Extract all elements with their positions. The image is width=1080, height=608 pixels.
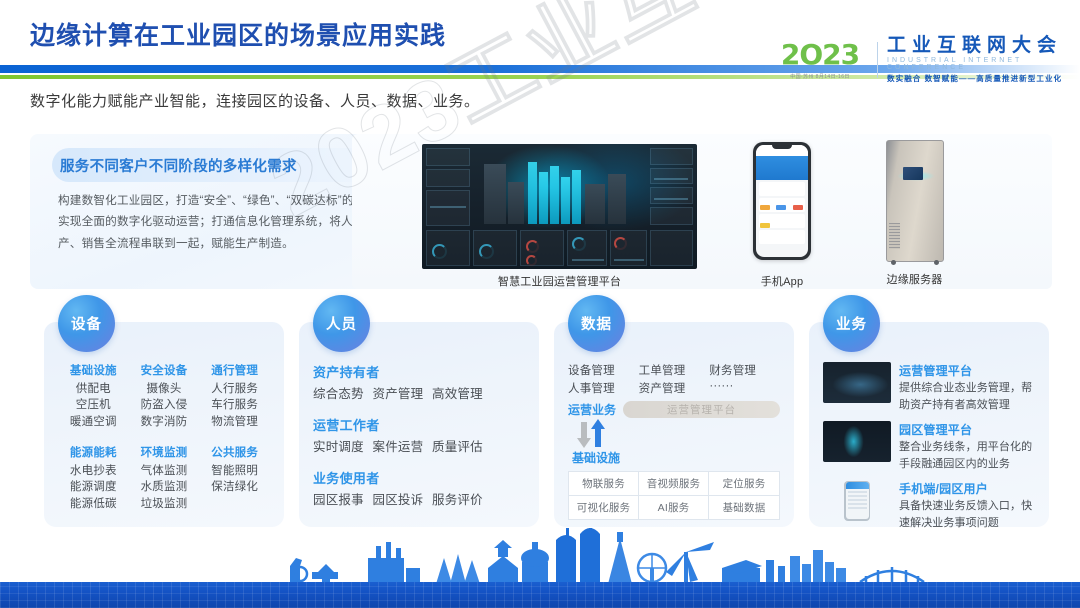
device-item: 智能照明 <box>199 463 270 479</box>
people-item: 实时调度 <box>313 440 364 454</box>
intro-body-text: 构建数智化工业园区，打造“安全”、“绿色”、“双碳达标”的园区，实现全面的数字化… <box>58 190 393 254</box>
logo-divider <box>877 42 878 78</box>
phone-chip <box>760 205 770 210</box>
people-item: 园区投诉 <box>373 493 424 507</box>
device-item: 防盗入侵 <box>129 397 200 413</box>
business-head: 手机端/园区用户 <box>899 480 1035 497</box>
footer-band <box>0 582 1080 608</box>
device-column-head: 安全设备 <box>129 362 200 378</box>
business-text: 运营管理平台 提供综合业态业务管理，帮助资产持有者高效管理 <box>899 362 1035 413</box>
page-subtitle: 数字化能力赋能产业智能，连接园区的设备、人员、数据、业务。 <box>30 90 480 111</box>
data-top-item: 资产管理 <box>639 380 710 396</box>
device-item: 空压机 <box>58 397 129 413</box>
device-item: 车行服务 <box>199 397 270 413</box>
mobile-phone-thumbnail <box>823 480 891 521</box>
server-vent <box>889 223 900 249</box>
business-text: 园区管理平台 整合业务线条，用平台化的手段融通园区内的业务 <box>899 421 1035 472</box>
mini-phone-mock <box>844 481 870 521</box>
phone-chip <box>793 205 803 210</box>
dashboard-caption: 智慧工业园运营管理平台 <box>422 273 697 289</box>
device-column-head: 环境监测 <box>129 444 200 460</box>
server-display-panel <box>903 167 923 180</box>
data-top-item: 设备管理 <box>568 362 639 378</box>
dashboard-screenshot <box>422 144 697 269</box>
phone-card <box>759 198 805 212</box>
pillar-badge-data: 数据 <box>568 295 625 352</box>
phone-screen <box>756 145 808 257</box>
data-top-item: 工单管理 <box>639 362 710 378</box>
people-item: 园区报事 <box>313 493 364 507</box>
phone-card <box>759 182 805 196</box>
data-top-item: 人事管理 <box>568 380 639 396</box>
data-service-box[interactable]: 物联服务 <box>569 472 639 496</box>
device-item: 水电抄表 <box>58 463 129 479</box>
server-caster <box>891 260 896 265</box>
people-group: 业务使用者 园区报事 园区投诉 服务评价 <box>313 468 525 508</box>
people-group: 资产持有者 综合态势 资产管理 高效管理 <box>313 362 525 402</box>
people-group-items: 综合态势 资产管理 高效管理 <box>313 383 525 402</box>
data-ops-label: 运营业务 <box>568 401 616 418</box>
device-item: 摄像头 <box>129 381 200 397</box>
phone-device-mock <box>753 142 811 260</box>
pillar-badge-business: 业务 <box>823 295 880 352</box>
people-group-items: 园区报事 园区投诉 服务评价 <box>313 489 525 508</box>
data-top-item: 财务管理 <box>709 362 780 378</box>
mini-phone-line <box>848 495 867 497</box>
logo-name-cn: 工业互联网大会 <box>887 36 1072 56</box>
logo-year-block: 2O23 中国·苏州 8月14日-16日 <box>772 41 868 80</box>
mini-phone-banner <box>846 482 869 489</box>
device-column: 公共服务 智能照明 保洁绿化 <box>199 444 270 512</box>
device-column: 基础设施 供配电 空压机 暖通空调 <box>58 362 129 430</box>
device-column-head: 基础设施 <box>58 362 129 378</box>
footer-decoration <box>0 528 1080 608</box>
mini-phone-line <box>848 491 867 493</box>
device-column-head: 公共服务 <box>199 444 270 460</box>
phone-hero-banner <box>756 156 808 180</box>
data-service-box[interactable]: 基础数据 <box>709 496 779 519</box>
server-photo: 边缘服务器 <box>862 140 967 270</box>
city-skyline-icon <box>0 528 1080 584</box>
server-caster <box>934 260 939 265</box>
people-item: 质量评估 <box>432 440 483 454</box>
pillar-badge-people: 人员 <box>313 295 370 352</box>
people-item: 高效管理 <box>432 387 483 401</box>
device-item: 垃圾监测 <box>129 496 200 512</box>
device-item: 暖通空调 <box>58 414 129 430</box>
server-caption: 边缘服务器 <box>862 271 967 287</box>
business-text: 手机端/园区用户 具备快速业务反馈入口，快速解决业务事项问题 <box>899 480 1035 531</box>
data-ops-row: 运营业务 运营管理平台 <box>568 401 780 418</box>
phone-caption: 手机App <box>747 273 817 289</box>
device-column: 通行管理 人行服务 车行服务 物流管理 <box>199 362 270 430</box>
logo-year: 2O23 <box>772 41 868 69</box>
phone-chip <box>760 223 770 228</box>
device-item: 气体监测 <box>129 463 200 479</box>
data-service-box[interactable]: AI服务 <box>639 496 709 519</box>
page-title: 边缘计算在工业园区的场景应用实践 <box>30 16 446 52</box>
data-flow-arrows <box>568 419 622 449</box>
business-desc: 具备快速业务反馈入口，快速解决业务事项问题 <box>899 498 1035 531</box>
device-column: 安全设备 摄像头 防盗入侵 数字消防 <box>129 362 200 430</box>
device-item: 保洁绿化 <box>199 479 270 495</box>
people-group-items: 实时调度 案件运营 质量评估 <box>313 436 525 455</box>
mini-phone-line <box>848 507 867 509</box>
data-service-box[interactable]: 定位服务 <box>709 472 779 496</box>
data-top-grid: 设备管理 工单管理 财务管理 人事管理 资产管理 ······ <box>568 362 780 396</box>
logo-date-location: 中国·苏州 8月14日-16日 <box>772 73 868 80</box>
people-group: 运营工作者 实时调度 案件运营 质量评估 <box>313 415 525 455</box>
device-grid: 基础设施 供配电 空压机 暖通空调 安全设备 摄像头 防盗入侵 数字消防 通行管… <box>58 362 270 512</box>
device-item: 水质监测 <box>129 479 200 495</box>
business-head: 运营管理平台 <box>899 362 1035 379</box>
data-service-boxes: 物联服务 音视频服务 定位服务 可视化服务 AI服务 基础数据 <box>568 471 780 520</box>
business-head: 园区管理平台 <box>899 421 1035 438</box>
people-item: 资产管理 <box>373 387 424 401</box>
device-column-head: 能源能耗 <box>58 444 129 460</box>
device-item: 供配电 <box>58 381 129 397</box>
phone-notch <box>772 145 792 149</box>
people-group-head: 业务使用者 <box>313 468 525 487</box>
device-item: 人行服务 <box>199 381 270 397</box>
business-desc: 提供综合业态业务管理，帮助资产持有者高效管理 <box>899 380 1035 413</box>
phone-chip <box>776 205 786 210</box>
device-item: 数字消防 <box>129 414 200 430</box>
phone-photo: 手机App <box>747 142 817 270</box>
logo-slogan: 数实融合 数智赋能——高质量推进新型工业化 <box>887 73 1072 84</box>
dashboard-photo: 智慧工业园运营管理平台 <box>422 144 697 269</box>
mini-phone-screen <box>846 482 869 519</box>
mini-phone-line <box>848 499 867 501</box>
people-group-head: 资产持有者 <box>313 362 525 381</box>
pillar-badge-device: 设备 <box>58 295 115 352</box>
conference-logo: 2O23 中国·苏州 8月14日-16日 工业互联网大会 INDUSTRIAL … <box>772 32 1072 88</box>
device-item: 能源低碳 <box>58 496 129 512</box>
data-service-row: 物联服务 音视频服务 定位服务 <box>569 472 779 496</box>
data-platform-pill: 运营管理平台 <box>623 401 780 418</box>
business-row: 园区管理平台 整合业务线条，用平台化的手段融通园区内的业务 <box>823 421 1035 472</box>
device-column: 能源能耗 水电抄表 能源调度 能源低碳 <box>58 444 129 512</box>
device-item: 物流管理 <box>199 414 270 430</box>
tower-dashboard-thumbnail <box>823 421 891 462</box>
device-column: 环境监测 气体监测 水质监测 垃圾监测 <box>129 444 200 512</box>
edge-server-mock <box>886 140 944 262</box>
product-photo-strip: 智慧工业园运营管理平台 手机App <box>352 134 1052 289</box>
people-item: 综合态势 <box>313 387 364 401</box>
data-top-item: ······ <box>709 380 780 396</box>
people-group-head: 运营工作者 <box>313 415 525 434</box>
data-infra-label: 基础设施 <box>572 449 780 466</box>
phone-card <box>759 230 805 244</box>
data-service-box[interactable]: 可视化服务 <box>569 496 639 519</box>
data-service-row: 可视化服务 AI服务 基础数据 <box>569 496 779 519</box>
business-row: 运营管理平台 提供综合业态业务管理，帮助资产持有者高效管理 <box>823 362 1035 413</box>
logo-name-en: INDUSTRIAL INTERNET CONFERENCE <box>887 57 1072 71</box>
data-service-box[interactable]: 音视频服务 <box>639 472 709 496</box>
device-item: 能源调度 <box>58 479 129 495</box>
people-item: 服务评价 <box>432 493 483 507</box>
logo-text-block: 工业互联网大会 INDUSTRIAL INTERNET CONFERENCE 数… <box>887 36 1072 85</box>
device-column-head: 通行管理 <box>199 362 270 378</box>
business-desc: 整合业务线条，用平台化的手段融通园区内的业务 <box>899 439 1035 472</box>
arrow-up-icon <box>590 419 606 447</box>
city-dashboard-thumbnail <box>823 362 891 403</box>
mini-phone-line <box>848 503 867 505</box>
arrow-down-icon <box>576 422 592 448</box>
business-row: 手机端/园区用户 具备快速业务反馈入口，快速解决业务事项问题 <box>823 480 1035 531</box>
people-item: 案件运营 <box>373 440 424 454</box>
intro-heading: 服务不同客户不同阶段的多样化需求 <box>52 148 392 182</box>
